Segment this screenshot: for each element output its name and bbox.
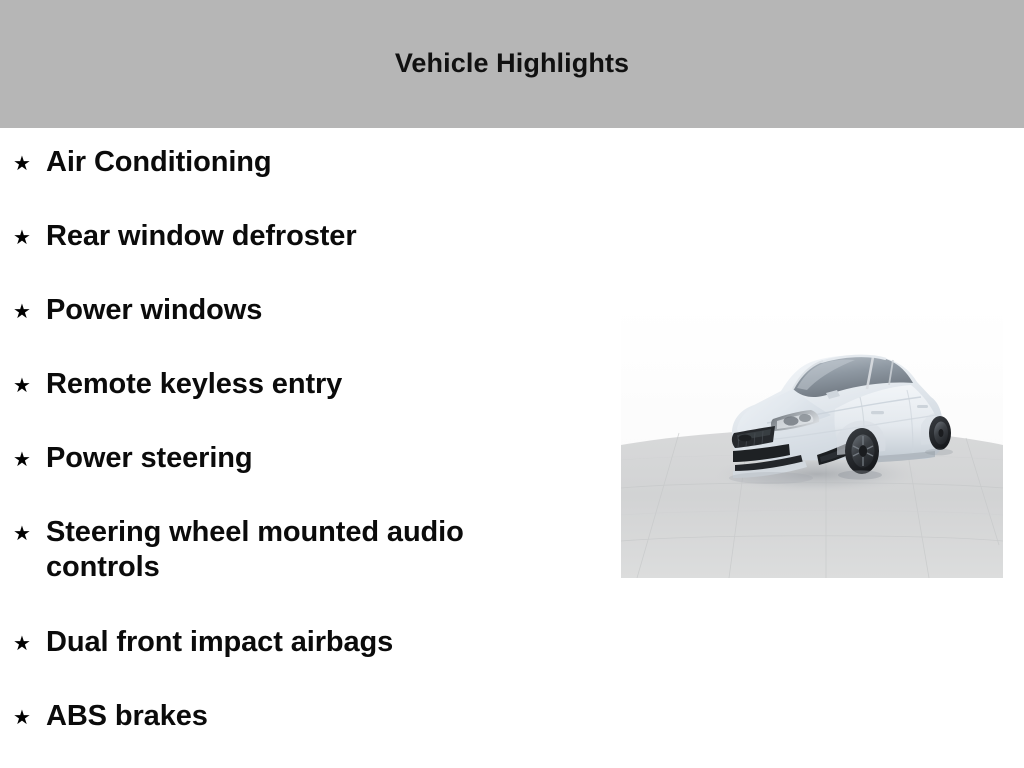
list-item-label: Rear window defroster	[46, 202, 600, 254]
list-item: ★ Power steering	[0, 424, 600, 498]
page-title: Vehicle Highlights	[0, 50, 1024, 77]
list-item-label: Steering wheel mounted audio controls	[46, 498, 566, 585]
header-banner: Vehicle Highlights	[0, 0, 1024, 128]
list-item: ★ Air Conditioning	[0, 128, 600, 202]
list-item: ★ Power windows	[0, 276, 600, 350]
star-bullet-icon: ★	[13, 524, 31, 544]
star-bullet-icon: ★	[13, 450, 31, 470]
star-bullet-icon: ★	[13, 302, 31, 322]
list-item-label: Air Conditioning	[46, 128, 600, 180]
list-item: ★ Dual front impact airbags	[0, 608, 600, 682]
list-item-label: Power windows	[46, 276, 600, 328]
list-item-label: ABS brakes	[46, 682, 600, 734]
star-bullet-icon: ★	[13, 634, 31, 654]
star-bullet-icon: ★	[13, 228, 31, 248]
list-item: ★ Steering wheel mounted audio controls	[0, 498, 600, 608]
list-item: ★ ABS brakes	[0, 682, 600, 756]
star-bullet-icon: ★	[13, 708, 31, 728]
list-item: ★ Rear window defroster	[0, 202, 600, 276]
list-item: ★ Remote keyless entry	[0, 350, 600, 424]
vehicle-photo-image	[621, 305, 1003, 578]
list-item-label: Remote keyless entry	[46, 350, 600, 402]
list-item-label: Dual front impact airbags	[46, 608, 600, 660]
vehicle-highlights-list: ★ Air Conditioning ★ Rear window defrost…	[0, 128, 600, 756]
list-item-label: Power steering	[46, 424, 600, 476]
vehicle-photo	[621, 305, 1003, 578]
star-bullet-icon: ★	[13, 376, 31, 396]
star-bullet-icon: ★	[13, 154, 31, 174]
